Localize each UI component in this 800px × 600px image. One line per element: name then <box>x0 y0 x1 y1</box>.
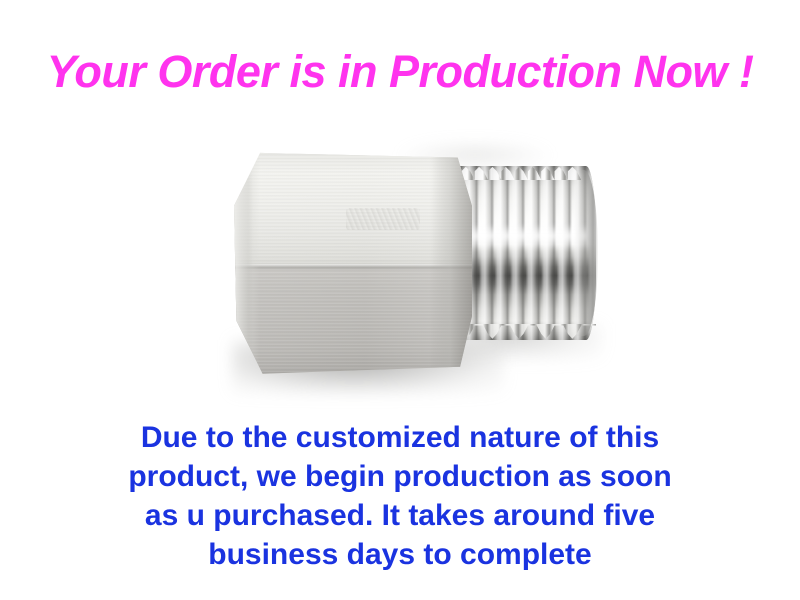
thread-end-cap <box>574 170 598 336</box>
notice-line: product, we begin production as soon <box>60 457 740 496</box>
promo-banner: Your Order is in Production Now ! <box>0 0 800 600</box>
notice-line: Due to the customized nature of this <box>60 418 740 457</box>
notice-line: as u purchased. It takes around five <box>60 496 740 535</box>
page-title: Your Order is in Production Now ! <box>0 46 800 98</box>
hex-engraved-marking <box>346 208 420 230</box>
notice-line: business days to complete <box>60 535 740 574</box>
product-photo <box>0 118 800 408</box>
hex-body <box>234 146 472 376</box>
production-notice-text: Due to the customized nature of this pro… <box>60 418 740 574</box>
